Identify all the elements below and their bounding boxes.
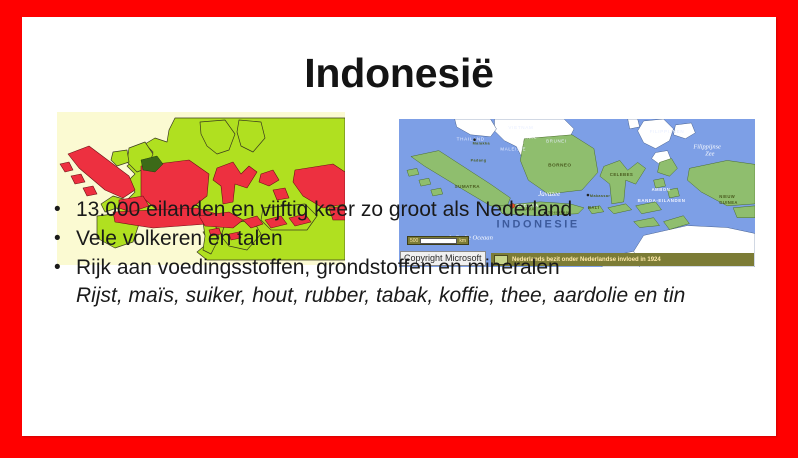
slide-red-frame: Indonesië xyxy=(0,0,798,458)
list-item: • 13.000 eilanden en vijftig keer zo gro… xyxy=(54,195,760,224)
map-label-vietnam: VIETNAM xyxy=(508,125,533,130)
bullet-icon: • xyxy=(54,195,76,224)
map-label-zuid-chinese-zee-2: Zee xyxy=(514,141,523,148)
page-title: Indonesië xyxy=(22,50,776,96)
map-label-filippijnse-zee-2: Zee xyxy=(705,151,714,158)
map-label-ambon: AMBON xyxy=(652,187,671,192)
map-label-celebes: CELEBES xyxy=(610,172,633,177)
map-label-brunei: BRUNEI xyxy=(546,139,567,144)
map-label-sumatra: SUMATRA xyxy=(455,184,481,189)
slide-canvas: Indonesië xyxy=(22,17,776,436)
map-label-borneo: BORNEO xyxy=(548,162,571,168)
bullet-icon: • xyxy=(54,224,76,253)
map-marker-malakka xyxy=(473,138,476,141)
bullet-list: • 13.000 eilanden en vijftig keer zo gro… xyxy=(54,195,760,309)
bullet-icon: • xyxy=(54,253,76,282)
list-item: • Rijk aan voedingsstoffen, grondstoffen… xyxy=(54,253,760,282)
bullet-text: 13.000 eilanden en vijftig keer zo groot… xyxy=(76,195,760,224)
bullet-text: Rijk aan voedingsstoffen, grondstoffen e… xyxy=(76,253,760,282)
map-label-filippijnen: FILIPPIJNEN xyxy=(650,129,685,134)
list-item: • Vele volkeren en talen xyxy=(54,224,760,253)
bullet-subtext: Rijst, maïs, suiker, hout, rubber, tabak… xyxy=(76,282,731,309)
map-label-malakka: Malakka xyxy=(473,142,491,146)
bullet-text: Vele volkeren en talen xyxy=(76,224,760,253)
map-label-padang: Padang xyxy=(471,158,487,162)
